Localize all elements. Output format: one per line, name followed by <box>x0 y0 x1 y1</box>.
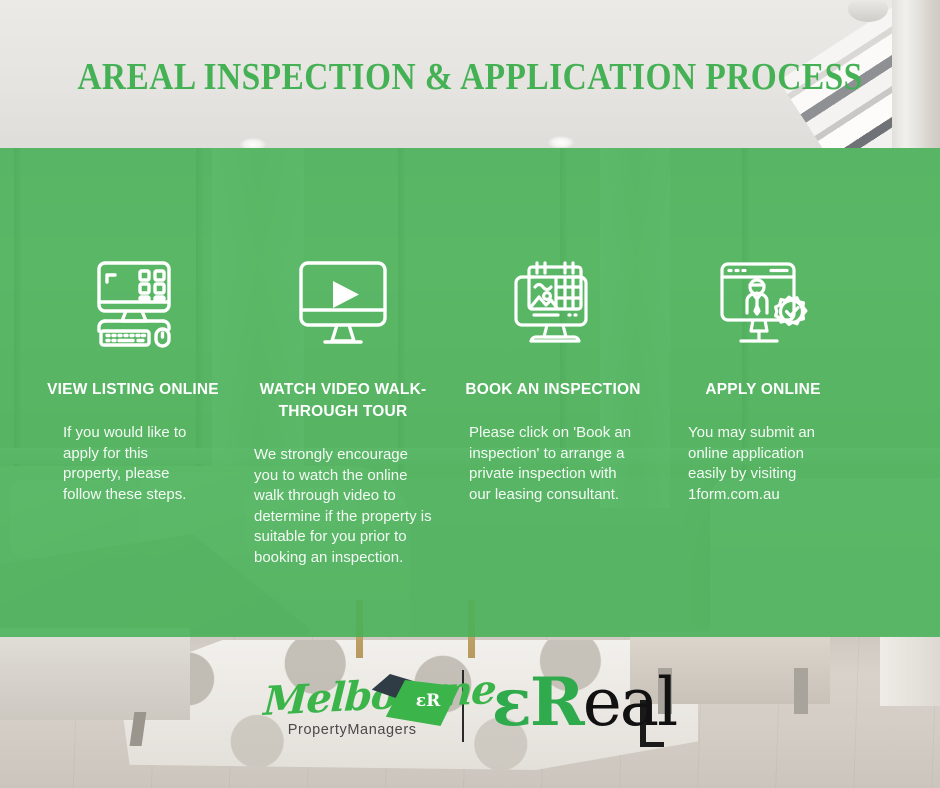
poster-canvas: AREAL INSPECTION & APPLICATION PROCESS <box>0 0 940 788</box>
step-body: We strongly encourage you to watch the o… <box>254 445 432 568</box>
areal-suffix: eal <box>583 664 677 741</box>
window-frame <box>892 0 926 170</box>
page-title: AREAL INSPECTION & APPLICATION PROCESS <box>56 55 883 99</box>
step-title: WATCH VIDEO WALK-THROUGH TOUR <box>251 379 436 423</box>
step-title: APPLY ONLINE <box>671 379 856 401</box>
step-body: If you would like to apply for this prop… <box>63 423 203 505</box>
areal-prefix: ɛR <box>492 663 583 741</box>
monitor-play-video-icon <box>288 250 398 355</box>
right-wall <box>924 0 940 170</box>
step-title: BOOK AN INSPECTION <box>461 379 646 401</box>
roof-er-monogram: ɛR <box>416 691 440 711</box>
step-book-an-inspection: BOOK AN INSPECTION Please click on 'Book… <box>448 250 658 568</box>
calendar-monitor-booking-icon <box>498 250 608 355</box>
user-gear-apply-icon <box>708 250 818 355</box>
step-body: Please click on 'Book an inspection' to … <box>469 423 637 505</box>
step-apply-online: APPLY ONLINE You may submit an online ap… <box>658 250 868 568</box>
melbourne-property-managers-logo[interactable]: Melbourne PropertyManagers ɛR <box>264 660 444 752</box>
desktop-listing-icon <box>78 250 188 355</box>
areal-logo[interactable]: ɛReal <box>492 669 677 736</box>
process-steps: VIEW LISTING ONLINE If you would like to… <box>0 250 940 568</box>
step-title: VIEW LISTING ONLINE <box>41 379 226 401</box>
step-view-listing-online: VIEW LISTING ONLINE If you would like to… <box>28 250 238 568</box>
roof-mark-icon: ɛR <box>386 680 460 726</box>
step-body: You may submit an online application eas… <box>688 423 838 505</box>
footer-logos: Melbourne PropertyManagers ɛR ɛReal <box>0 660 940 752</box>
step-watch-video-walk-through-tour: WATCH VIDEO WALK-THROUGH TOUR We strongl… <box>238 250 448 568</box>
